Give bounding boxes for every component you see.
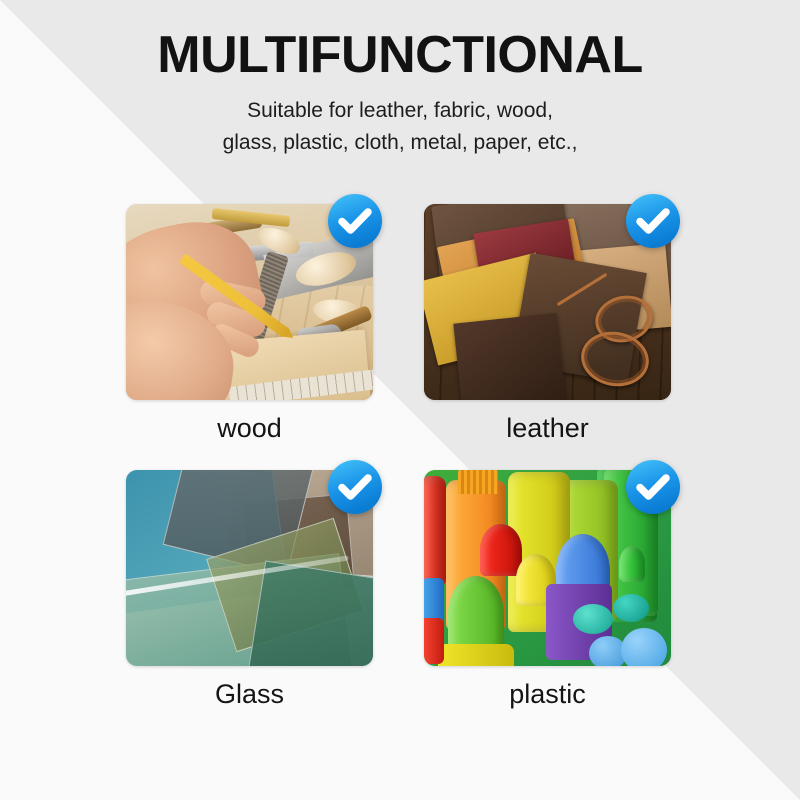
product-feature-page: MULTIFUNCTIONAL Suitable for leather, fa… xyxy=(0,0,800,800)
subtitle-line-1: Suitable for leather, fabric, wood, xyxy=(0,95,800,127)
subtitle-line-2: glass, plastic, cloth, metal, paper, etc… xyxy=(0,127,800,159)
material-card-grid: wood xyxy=(126,204,672,708)
card-row-bottom: Glass xyxy=(126,470,672,708)
material-label-wood: wood xyxy=(126,400,373,442)
header: MULTIFUNCTIONAL Suitable for leather, fa… xyxy=(0,0,800,159)
page-subtitle: Suitable for leather, fabric, wood, glas… xyxy=(0,83,800,159)
material-label-glass: Glass xyxy=(126,666,373,708)
material-label-leather: leather xyxy=(424,400,671,442)
page-title: MULTIFUNCTIONAL xyxy=(0,0,800,83)
material-card-leather[interactable]: leather xyxy=(424,204,671,442)
check-circle-icon xyxy=(625,459,681,515)
material-label-plastic: plastic xyxy=(424,666,671,708)
material-card-glass[interactable]: Glass xyxy=(126,470,373,708)
card-row-top: wood xyxy=(126,204,672,442)
material-card-plastic[interactable]: plastic xyxy=(424,470,671,708)
check-circle-icon xyxy=(327,193,383,249)
check-circle-icon xyxy=(327,459,383,515)
check-circle-icon xyxy=(625,193,681,249)
material-card-wood[interactable]: wood xyxy=(126,204,373,442)
